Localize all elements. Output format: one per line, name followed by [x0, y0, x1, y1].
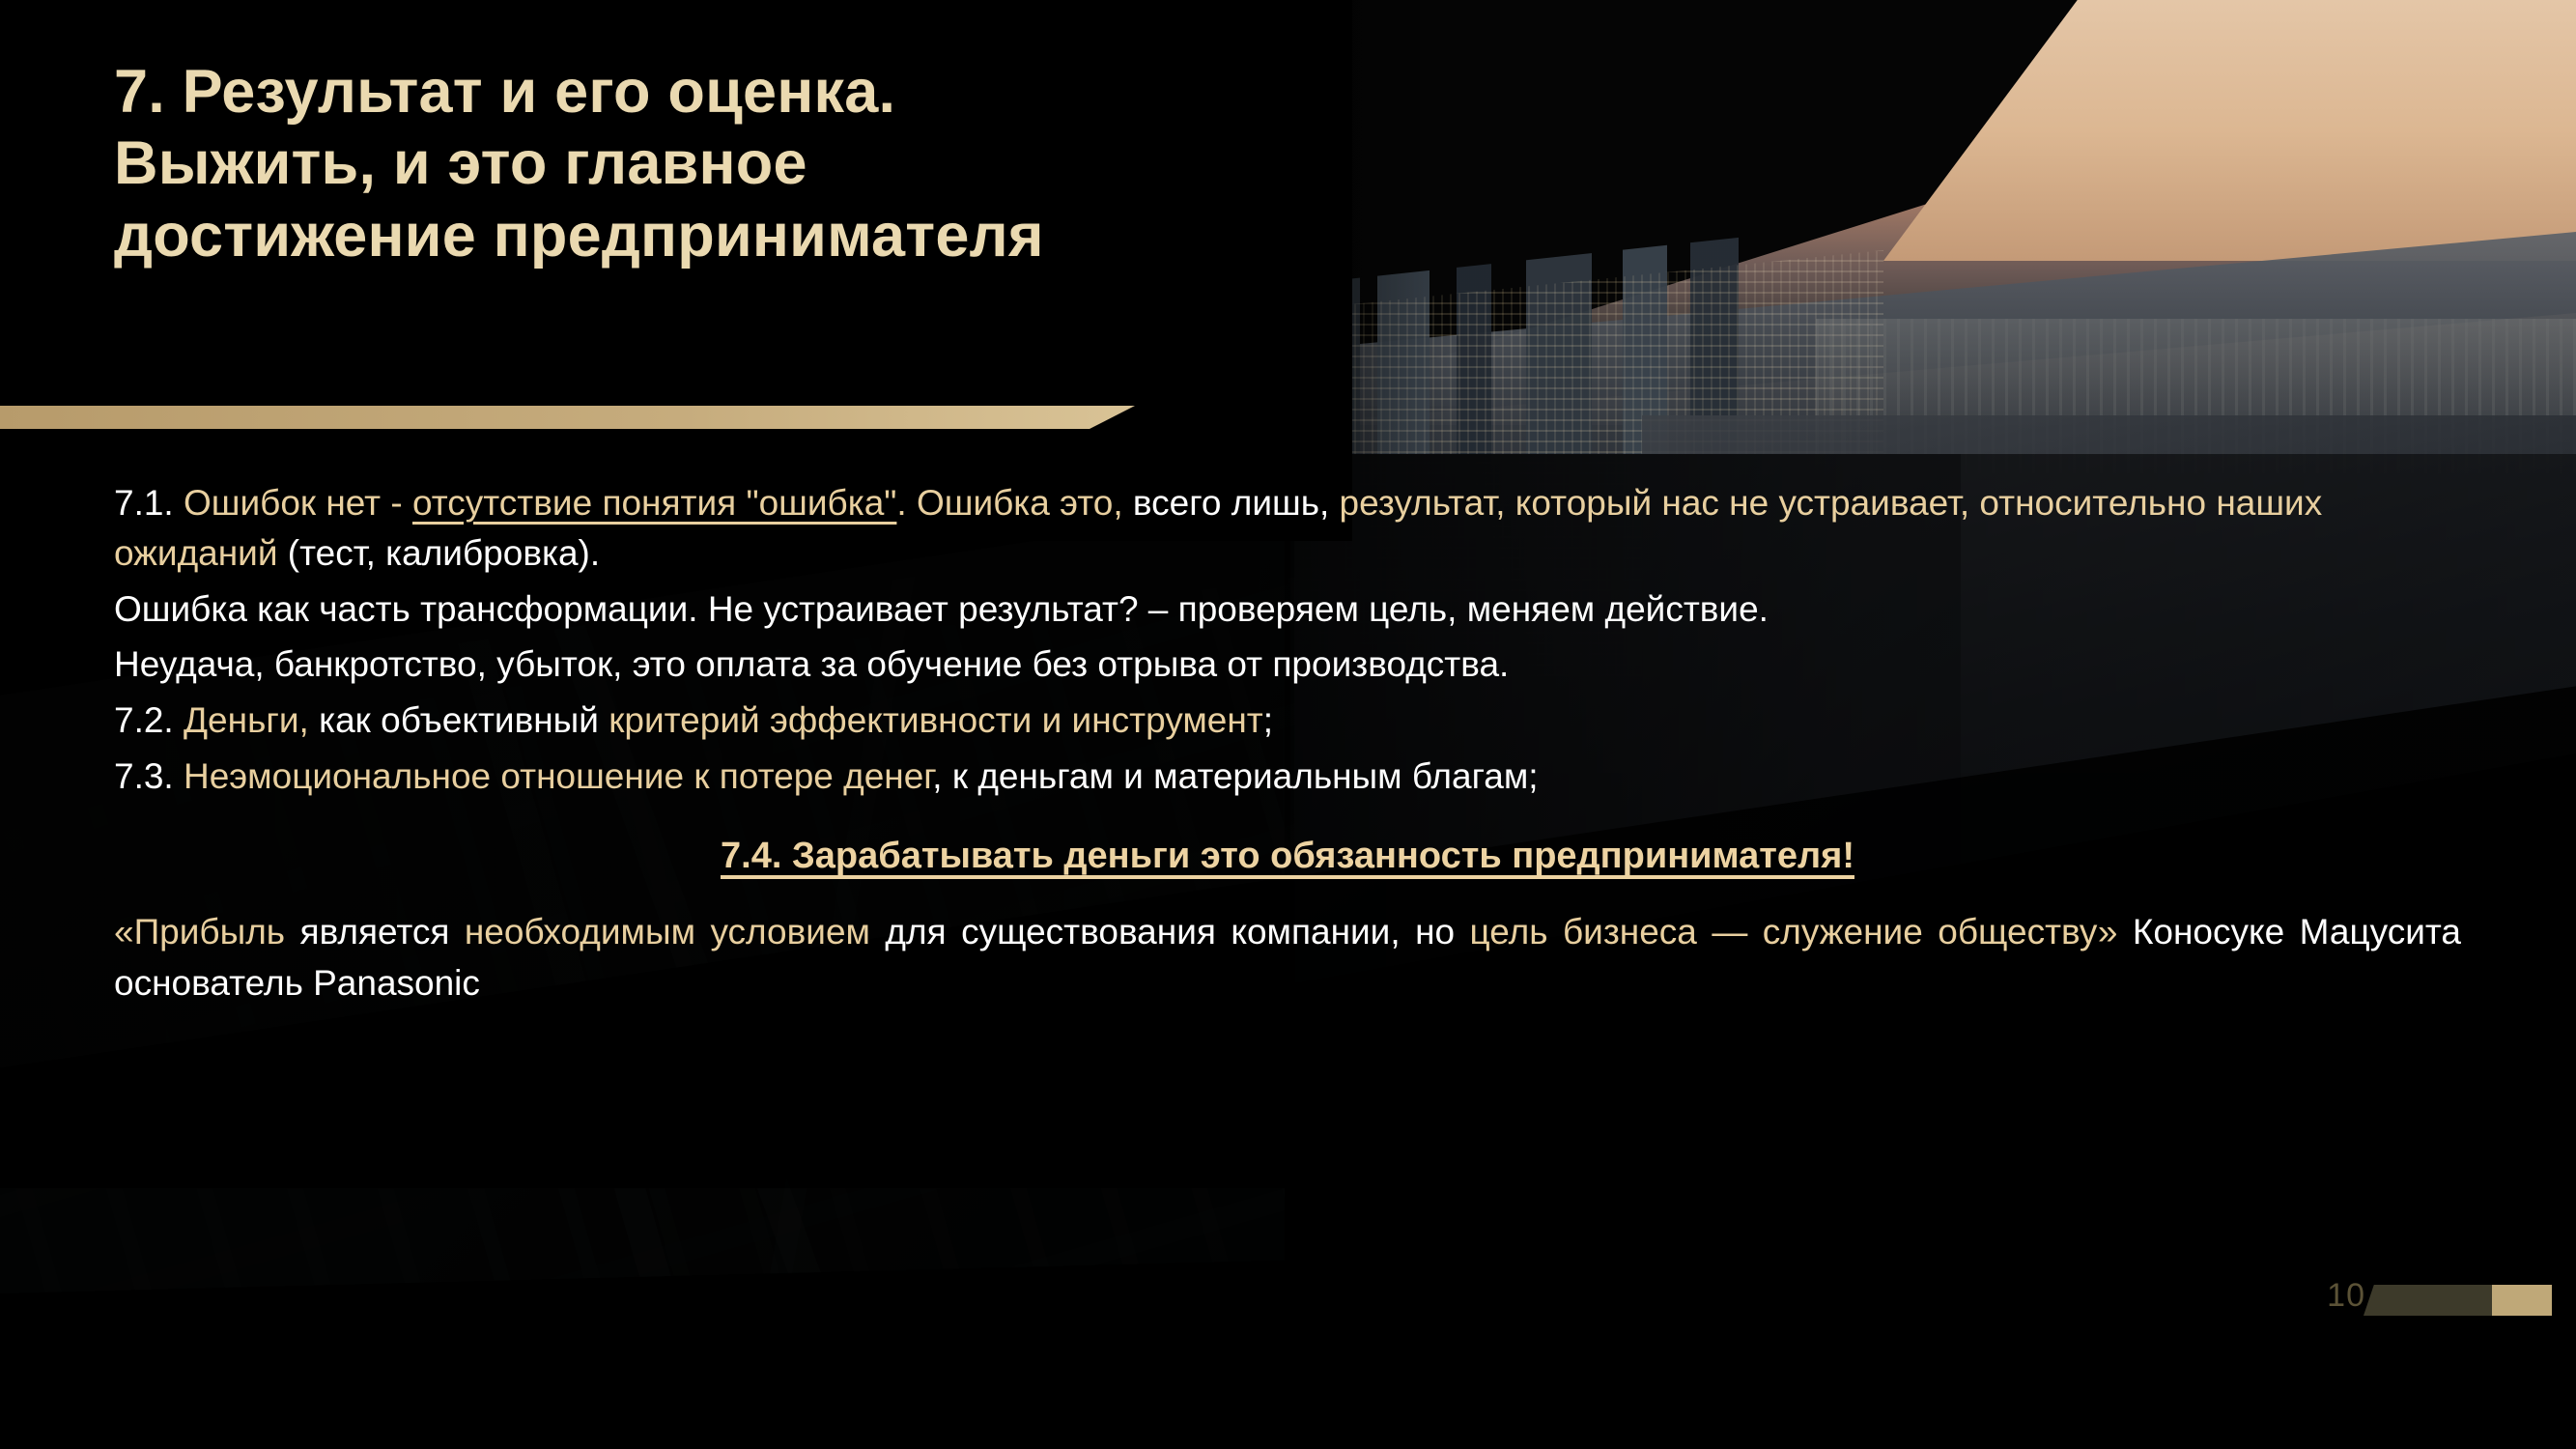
page-number: 10 [2327, 1277, 2365, 1315]
bullet-7-2-seg3: критерий эффективности и инструмент [609, 700, 1263, 740]
quote-text: «Прибыль является необходимым условием д… [114, 907, 2461, 1009]
bullet-7-2: 7.2. Деньги, как объективный критерий эф… [114, 696, 2461, 746]
bullet-7-3: 7.3. Неэмоциональное отношение к потере … [114, 752, 2461, 802]
bullet-7-1-seg4: всего лишь, [1133, 483, 1340, 523]
bullet-7-3-seg1: Неэмоциональное отношение к потере денег [174, 756, 933, 796]
footer-bar-gold [2492, 1285, 2552, 1316]
bullet-7-2-seg4: ; [1263, 700, 1273, 740]
bullet-7-2-seg1: Деньги, [174, 700, 319, 740]
sky-top-right-photo [1883, 0, 2576, 261]
quote-seg3: необходимым условием [465, 912, 886, 952]
bullet-7-2-number: 7.2. [114, 700, 174, 740]
gold-divider-rule [0, 406, 1135, 429]
quote-seg5: цель бизнеса — служение обществу» [1470, 912, 2118, 952]
bullet-7-1-seg6: (тест, калибровка). [288, 533, 600, 573]
heading-7-4: 7.4. Зарабатывать деньги это обязанность… [114, 831, 2461, 882]
quote-seg4: для существования компании, но [885, 912, 1469, 952]
slide-body: 7.1. Ошибок нет - отсутствие понятия "ош… [114, 478, 2461, 1009]
quote-seg2: является [300, 912, 465, 952]
bullet-7-1-seg1: Ошибок нет - [174, 483, 412, 523]
quote-seg1: «Прибыль [114, 912, 300, 952]
slide-canvas: 7. Результат и его оценка. Выжить, и это… [0, 0, 2576, 1449]
paragraph-failure: Неудача, банкротство, убыток, это оплата… [114, 639, 2461, 690]
footer-bar-dark [2364, 1285, 2494, 1316]
title-line-1: 7. Результат и его оценка. [114, 56, 1399, 128]
slide-title: 7. Результат и его оценка. Выжить, и это… [114, 56, 1399, 271]
title-line-2: Выжить, и это главное [114, 128, 1399, 199]
paragraph-transformation: Ошибка как часть трансформации. Не устра… [114, 584, 2461, 635]
quote-block: «Прибыль является необходимым условием д… [114, 907, 2461, 1009]
bullet-7-3-seg2: , к деньгам и материальным благам; [932, 756, 1538, 796]
bullet-7-1-seg3: . Ошибка это, [896, 483, 1132, 523]
bullet-7-1-emphasis: отсутствие понятия "ошибка" [412, 483, 896, 523]
bullet-7-1-number: 7.1. [114, 483, 174, 523]
bottom-black-bar [0, 1352, 2576, 1449]
bullet-7-2-seg2: как объективный [319, 700, 609, 740]
bullet-7-3-number: 7.3. [114, 756, 174, 796]
title-line-3: достижение предпринимателя [114, 200, 1399, 271]
bullet-7-1: 7.1. Ошибок нет - отсутствие понятия "ош… [114, 478, 2461, 579]
